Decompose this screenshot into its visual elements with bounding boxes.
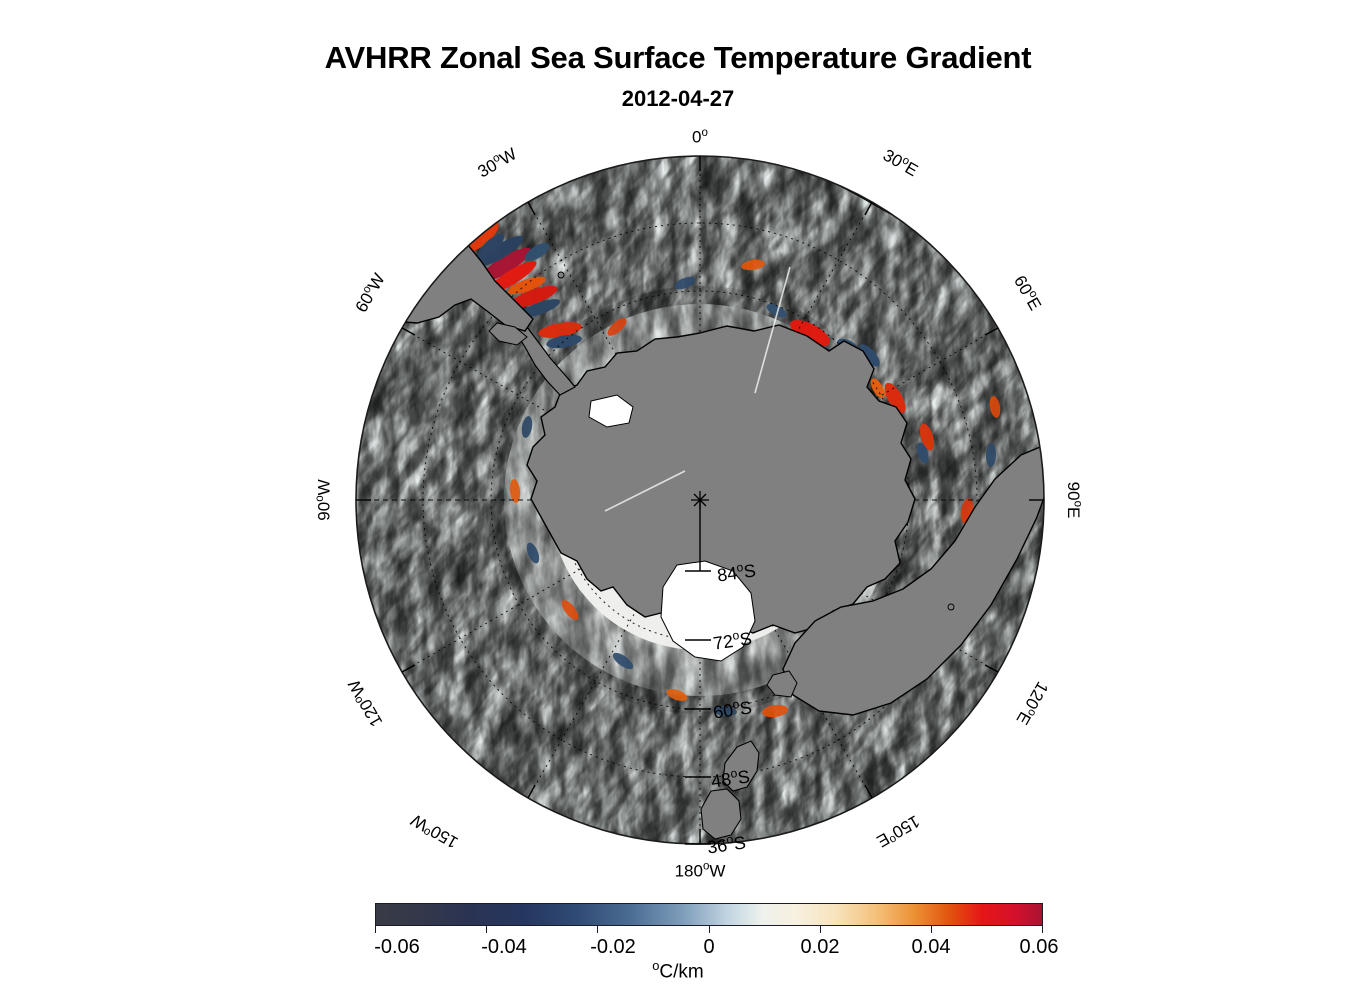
colorbar-label-5: 0.04 <box>912 936 951 959</box>
colorbar-label-4: 0.02 <box>801 936 840 959</box>
colorbar-label-0: -0.06 <box>374 936 420 959</box>
colorbar-label-6: 0.06 <box>1020 936 1059 959</box>
colorbar-tick-3 <box>709 926 710 933</box>
lon-label-180w: 180oW <box>675 861 726 882</box>
colorbar-label-2: -0.02 <box>590 936 636 959</box>
lon-label-90w: 90oW <box>314 479 335 520</box>
colorbar-tick-0 <box>375 926 376 933</box>
lon-label-0: 0o <box>692 127 708 148</box>
lon-label-90e: 90oE <box>1063 482 1084 519</box>
figure-subtitle: 2012-04-27 <box>0 86 1356 112</box>
colorbar-unit-label: oC/km <box>0 958 1356 983</box>
colorbar-tick-6 <box>1042 926 1043 933</box>
colorbar-label-3: 0 <box>703 936 714 959</box>
lat-label-36s: 36oS <box>706 830 748 858</box>
colorbar-tick-1 <box>486 926 487 933</box>
colorbar[interactable] <box>375 903 1043 926</box>
colorbar-tick-2 <box>597 926 598 933</box>
colorbar-tick-4 <box>820 926 821 933</box>
polar-map[interactable]: 0o 30oE 60oE 90oE 120oE 150oE 180oW 150o… <box>355 155 1045 845</box>
unit-text: C/km <box>659 961 703 982</box>
page-title: AVHRR Zonal Sea Surface Temperature Grad… <box>0 40 1356 76</box>
colorbar-tick-5 <box>931 926 932 933</box>
colorbar-label-1: -0.04 <box>481 936 527 959</box>
figure-canvas: AVHRR Zonal Sea Surface Temperature Grad… <box>0 0 1356 1000</box>
south-georgia-island <box>558 272 564 278</box>
polar-map-svg <box>355 155 1045 845</box>
kerguelen-island <box>948 604 954 610</box>
